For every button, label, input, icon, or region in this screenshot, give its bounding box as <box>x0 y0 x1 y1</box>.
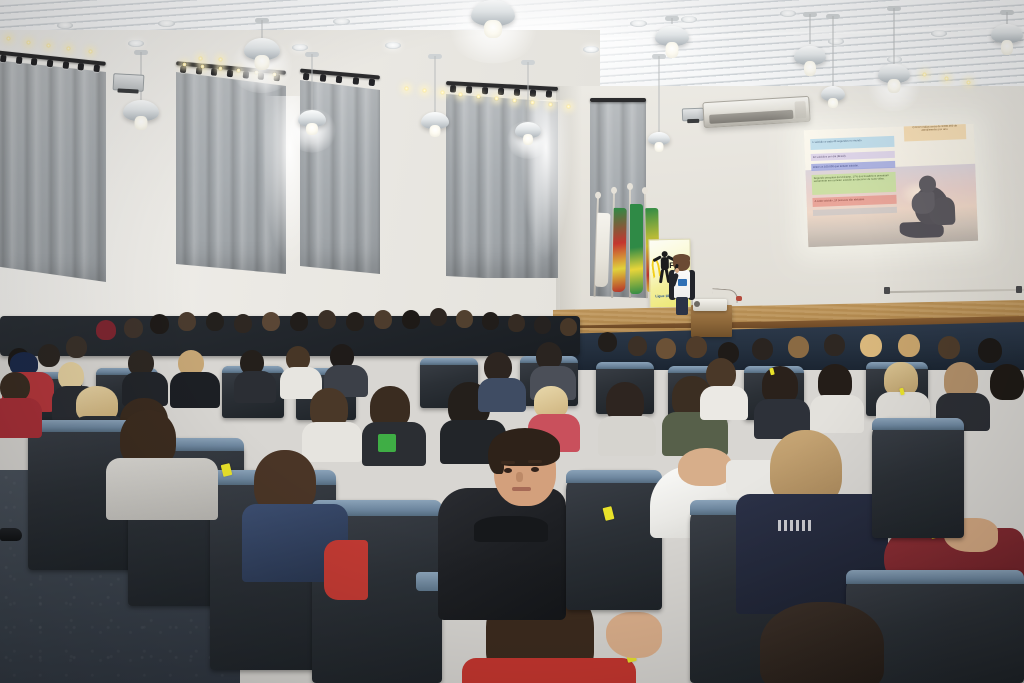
curtain-panel-4 <box>446 86 558 278</box>
projection-screen: 1 suicídio a cada 40 segundos no mundo. … <box>804 124 978 247</box>
head <box>598 332 617 352</box>
head <box>760 602 884 683</box>
string-light <box>66 46 71 51</box>
string-light <box>530 100 535 105</box>
string-light <box>440 90 445 95</box>
hero-mouth <box>512 487 531 491</box>
pendant-lamp <box>874 62 914 110</box>
flag-cloth <box>595 213 611 287</box>
shirt-print <box>778 520 814 531</box>
hero-brow-left <box>501 461 515 464</box>
head <box>978 338 1002 363</box>
string-light <box>6 36 11 41</box>
string-light <box>182 62 187 67</box>
head <box>788 336 809 358</box>
recessed-spot <box>385 42 401 49</box>
string-light <box>476 94 481 99</box>
seat-trim <box>872 418 964 430</box>
head <box>560 318 577 336</box>
head <box>752 338 773 360</box>
head <box>124 318 143 338</box>
head <box>508 314 525 332</box>
shoe <box>0 528 22 541</box>
lamp-cord <box>262 20 263 40</box>
hand <box>678 448 732 486</box>
string-light <box>46 43 51 48</box>
slide-box-lavender: 32 suicídios por dia (Brasil). <box>811 151 895 161</box>
head <box>482 312 499 330</box>
lamp-bulb <box>523 134 533 145</box>
head <box>456 310 473 328</box>
figure-leg-left <box>659 269 664 283</box>
lamp-bulb <box>804 61 816 76</box>
string-light <box>422 88 427 93</box>
head <box>656 338 676 359</box>
head <box>430 308 447 326</box>
wall-speaker-bracket <box>682 108 704 122</box>
head <box>534 316 551 334</box>
recessed-spot <box>333 18 350 25</box>
lamp-cord <box>833 16 834 88</box>
hero-eye-left <box>504 468 512 473</box>
head-with-cap <box>10 352 38 374</box>
string-light <box>548 102 553 107</box>
lamp-bulb <box>135 116 148 130</box>
lamp-cord <box>312 54 313 112</box>
head-with-cap <box>96 320 116 340</box>
head <box>178 312 196 331</box>
presenter-hand <box>675 268 679 273</box>
lamp-bulb <box>888 79 901 93</box>
seat-trim <box>566 470 662 483</box>
auditorium-photo: 1 suicídio a cada 40 segundos no mundo. … <box>0 0 1024 683</box>
pendant-lamp <box>818 86 848 120</box>
pendant-lamp <box>466 0 520 46</box>
recessed-spot <box>931 30 947 37</box>
recessed-spot <box>630 20 647 27</box>
head <box>898 334 920 357</box>
flag-rio-grande-do-sul <box>611 192 629 298</box>
slide-box-blue: 1 suicídio a cada 40 segundos no mundo. <box>810 136 894 150</box>
rail-clip <box>1016 286 1022 293</box>
recessed-spot <box>780 10 796 17</box>
head <box>374 310 392 329</box>
shoulders-hoodie <box>106 458 218 520</box>
lamp-cord <box>672 18 673 24</box>
projector-lens <box>694 301 700 307</box>
hand <box>606 612 662 658</box>
shoulders <box>234 371 276 403</box>
wall-speaker-bracket <box>113 73 145 92</box>
silhouette-arm <box>911 192 935 215</box>
string-light <box>88 49 93 54</box>
presenter-shirt-logo <box>678 279 687 286</box>
head <box>402 310 420 329</box>
shoulders <box>810 395 864 433</box>
head <box>234 314 252 333</box>
shoulders <box>700 386 748 420</box>
hero-nose <box>516 472 523 482</box>
lamp-cord <box>1007 12 1008 24</box>
presenter-legs <box>676 297 688 315</box>
string-light <box>566 104 571 109</box>
hero-hair-side <box>488 440 504 474</box>
rail-clip <box>884 287 890 294</box>
string-light <box>218 57 223 62</box>
flag-finial <box>627 183 633 190</box>
head <box>824 334 845 356</box>
pendant-lamp <box>240 36 284 100</box>
lamp-bulb <box>828 98 838 108</box>
recessed-spot <box>158 20 175 27</box>
curtain-rod-5 <box>590 98 646 102</box>
flag-cloth <box>612 208 626 292</box>
ac-louver <box>709 110 793 124</box>
head <box>66 336 87 358</box>
string-light <box>218 66 223 71</box>
string-light <box>200 64 205 69</box>
head <box>686 336 707 358</box>
string-light <box>198 56 203 61</box>
string-light <box>944 76 949 81</box>
string-light <box>26 40 31 45</box>
shoulders <box>170 372 220 408</box>
recessed-spot <box>292 44 308 51</box>
seat <box>872 418 964 538</box>
shoulders <box>302 422 362 462</box>
flag-finial <box>595 192 601 199</box>
flag-brazil <box>629 188 645 298</box>
seat-trim <box>420 358 478 365</box>
slide-box-green: Segundo pesquisa da Unicamp, 17% dos bra… <box>812 172 897 195</box>
pendant-lamp <box>988 22 1024 68</box>
string-light <box>512 98 517 103</box>
hero-collar <box>474 516 548 542</box>
hoodie-red-lining <box>324 540 368 600</box>
lamp-cord <box>435 56 436 114</box>
lamp-bulb <box>666 42 679 58</box>
head <box>150 314 169 334</box>
flag-finial <box>611 187 617 194</box>
jacket-logo <box>378 434 396 452</box>
hero-brow-right <box>528 460 542 463</box>
lamp-bulb <box>655 142 664 152</box>
head <box>628 336 647 356</box>
recessed-spot <box>57 22 73 29</box>
person-silhouette <box>894 175 954 239</box>
hero-jacket <box>438 488 566 620</box>
seat-trim <box>596 362 654 369</box>
lamp-cord <box>659 56 660 134</box>
head <box>938 336 960 359</box>
pendant-lamp <box>294 110 330 158</box>
ac-panel-end <box>794 101 806 119</box>
string-light <box>494 96 499 101</box>
string-light <box>922 72 927 77</box>
head <box>38 344 60 367</box>
lamp-cord <box>810 14 811 44</box>
pendant-lamp <box>120 98 162 158</box>
head <box>990 364 1024 400</box>
cable-clip <box>736 296 742 301</box>
shoulders <box>0 398 42 438</box>
recessed-spot <box>583 46 599 53</box>
string-light <box>966 80 971 85</box>
head <box>206 312 224 331</box>
pendant-lamp <box>650 22 694 66</box>
hero-eye-right <box>531 467 539 472</box>
recessed-spot <box>828 38 844 45</box>
lamp-cord <box>894 8 895 64</box>
lamp-cord <box>528 62 529 124</box>
pendant-lamp <box>790 42 830 86</box>
head <box>346 312 364 331</box>
lamp-bulb <box>430 125 441 137</box>
pendant-lamp <box>646 132 672 168</box>
lamp-bulb <box>1001 40 1013 55</box>
presenter-hair-front <box>673 254 690 262</box>
seat <box>566 470 662 610</box>
lamp-bulb <box>484 20 502 38</box>
pendant-lamp <box>418 112 452 156</box>
string-light <box>458 92 463 97</box>
flag-finial <box>642 187 648 194</box>
seat-trim <box>846 570 1024 584</box>
shoulders <box>478 378 526 412</box>
flag-cloth <box>630 204 643 294</box>
wall-corner-shadow <box>556 86 582 326</box>
lamp-bulb <box>306 123 318 135</box>
recessed-spot <box>128 40 144 47</box>
head <box>290 312 308 331</box>
head <box>318 310 336 329</box>
curtain-panel-1 <box>0 60 106 288</box>
head <box>860 334 882 357</box>
lamp-bulb <box>255 55 270 70</box>
slide-callout-orange: O CVV realiza cerca de 3.000.000 de aten… <box>904 124 967 142</box>
pendant-lamp <box>512 122 544 164</box>
shoulders <box>598 416 656 456</box>
head <box>262 312 280 331</box>
string-light <box>404 86 409 91</box>
shoulders <box>462 658 636 683</box>
